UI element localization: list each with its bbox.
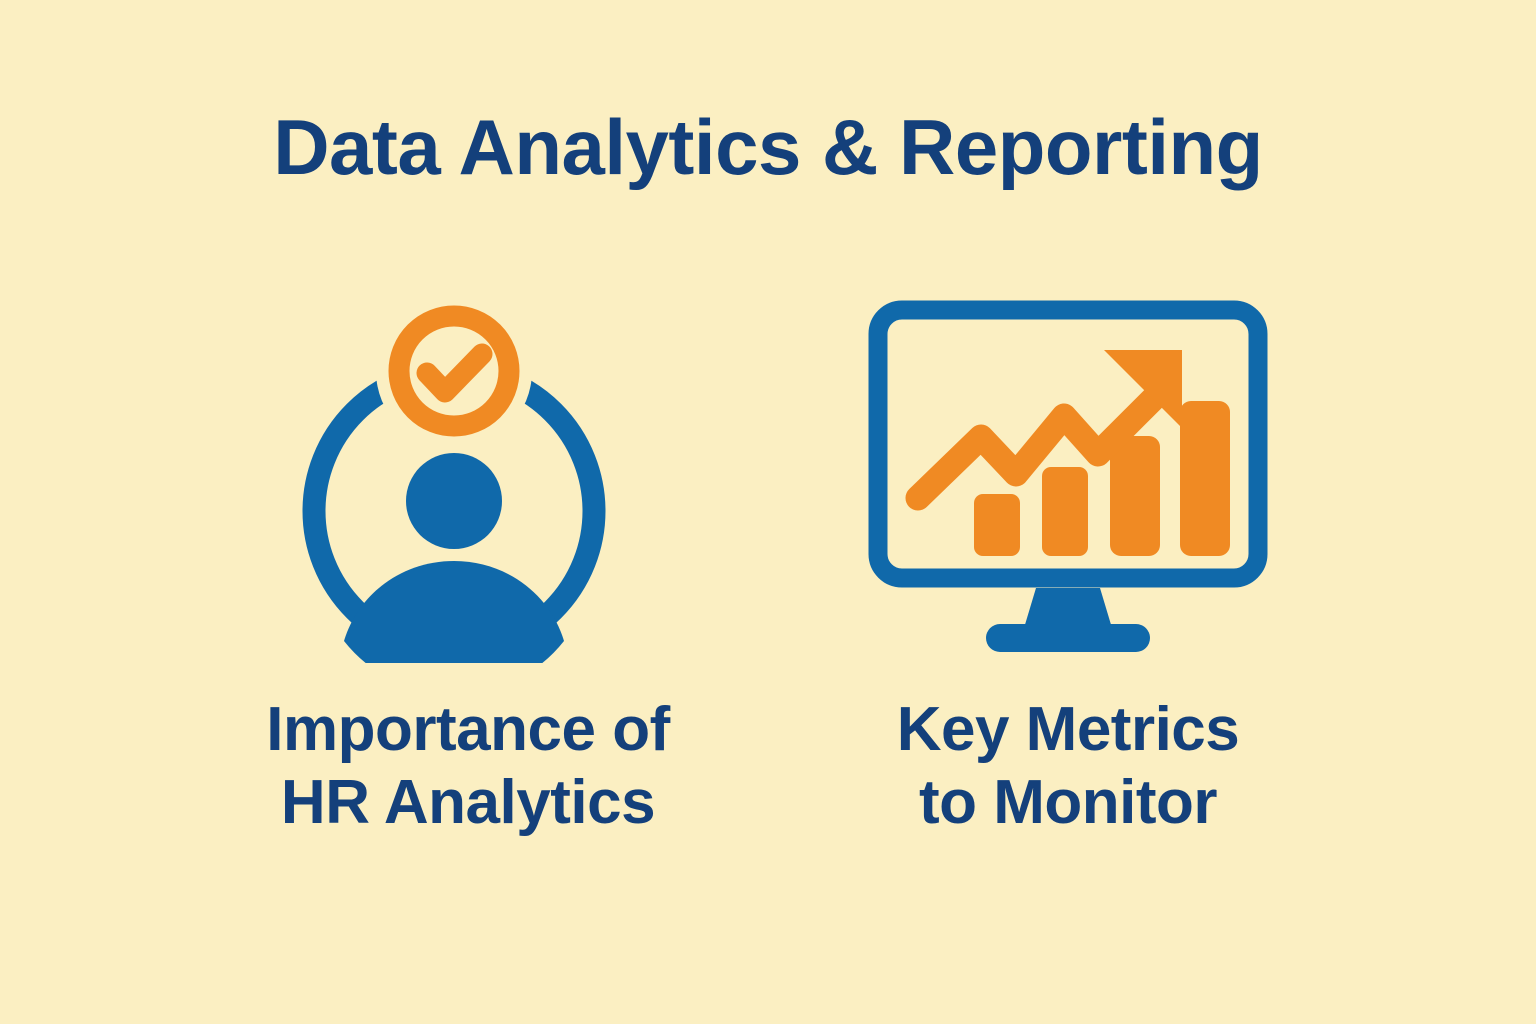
column-key-metrics-to-monitor: Key Metrics to Monitor — [808, 290, 1328, 839]
caption-left: Importance of HR Analytics — [266, 693, 669, 839]
column-importance-of-hr-analytics: Importance of HR Analytics — [208, 290, 728, 839]
caption-right: Key Metrics to Monitor — [897, 693, 1240, 839]
caption-left-line1: Importance of — [266, 693, 669, 766]
caption-left-line2: HR Analytics — [266, 766, 669, 839]
monitor-growth-chart-icon — [868, 298, 1268, 658]
caption-right-line2: to Monitor — [897, 766, 1240, 839]
chart-bar-2 — [1042, 467, 1088, 556]
person-head — [406, 453, 502, 549]
monitor-stand-neck — [1024, 588, 1112, 628]
verified-user-icon — [288, 293, 648, 663]
icon-slot-right — [868, 290, 1268, 665]
chart-bar-1 — [974, 494, 1020, 556]
caption-right-line1: Key Metrics — [897, 693, 1240, 766]
chart-bar-3 — [1110, 436, 1160, 556]
infographic-canvas: Data Analytics & Reporting — [0, 0, 1536, 1024]
monitor-stand-base — [986, 624, 1150, 652]
icon-slot-left — [268, 290, 668, 665]
page-title: Data Analytics & Reporting — [0, 108, 1536, 186]
chart-bar-4 — [1180, 401, 1230, 556]
person-shoulders — [344, 561, 564, 663]
two-column-content: Importance of HR Analytics — [0, 290, 1536, 890]
